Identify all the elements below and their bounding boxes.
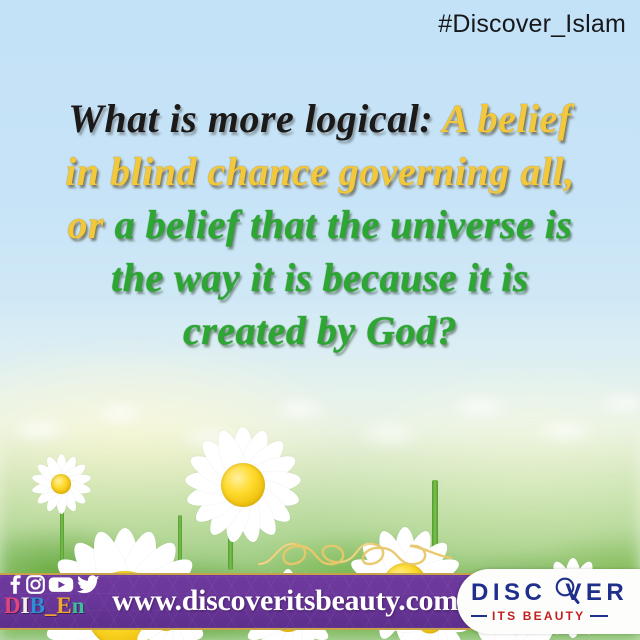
handle-letter: I [21,593,30,618]
handle-letter: _ [45,593,57,618]
website-url[interactable]: www.discoveritsbeauty.com [105,584,465,618]
twitter-icon[interactable] [77,575,100,594]
quote-line: the way it is because it is [0,251,640,304]
tagline-rule-right [590,615,608,617]
logo-tagline-row: ITS BEAUTY [471,609,640,623]
tagline-rule-left [471,615,487,617]
instagram-icon[interactable] [26,575,45,594]
daisy-core [51,474,71,494]
daisy-core [221,463,265,507]
discover-logo[interactable]: DISCVER ITS BEAUTY [457,569,640,634]
social-icon-row [7,575,100,594]
poster-canvas: #Discover_Islam What is more logical: A … [0,0,640,640]
quote-line: created by God? [0,304,640,357]
quote-text-block: What is more logical: A beliefin blind c… [0,92,640,357]
quote-segment: a belief that the universe is [115,202,573,247]
youtube-icon[interactable] [48,575,74,594]
quote-line: What is more logical: A belief [0,92,640,145]
handle-letter: E [56,593,71,618]
quote-segment: in blind chance governing all, [65,149,575,194]
handle-letter: n [72,593,85,618]
footer-banner: DIB_En www.discoveritsbeauty.com DISCVER… [0,573,640,630]
gold-flourish-ornament [255,534,455,568]
logo-tagline: ITS BEAUTY [492,609,585,623]
quote-segment: A belief [433,96,572,141]
quote-line: in blind chance governing all, [0,145,640,198]
handle-letter: B [30,593,45,618]
quote-segment: What is more logical: [68,96,433,141]
quote-segment: or [68,202,115,247]
social-handle: DIB_En [4,594,85,617]
quote-segment: created by God? [183,308,457,353]
handle-letter: D [4,593,21,618]
hashtag-label: #Discover_Islam [438,10,626,39]
quote-segment: the way it is because it is [111,255,529,300]
magnifier-icon [553,576,581,606]
facebook-icon[interactable] [7,575,23,594]
quote-line: or a belief that the universe is [0,198,640,251]
logo-word-left: DISC [471,579,546,606]
